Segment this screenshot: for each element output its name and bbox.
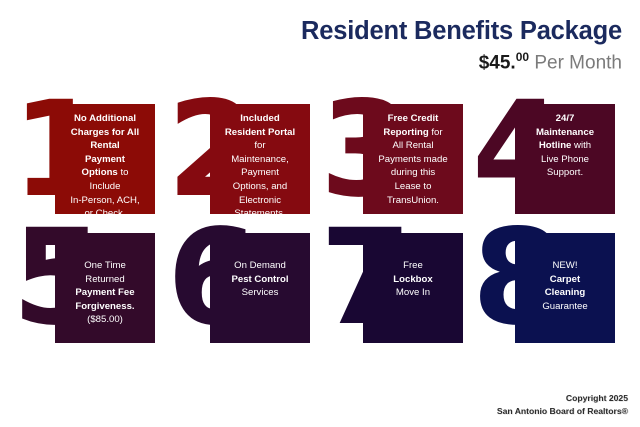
benefit-card-line: Services [214, 286, 306, 300]
benefit-card-6[interactable]: On DemandPest ControlServices [210, 233, 310, 343]
benefit-card-8[interactable]: NEW!CarpetCleaningGuarantee [515, 233, 615, 343]
benefit-card-line: for [214, 139, 306, 153]
price-amount: $45. [479, 52, 516, 73]
benefit-card-line: Rental [59, 139, 151, 153]
price-cents: 00 [516, 50, 529, 64]
page-title: Resident Benefits Package [301, 18, 622, 45]
benefit-card-line: ($85.00) [59, 313, 151, 327]
price-period: Per Month [529, 52, 622, 73]
benefit-card-line: Live Phone [519, 153, 611, 167]
benefit-card-line: On Demand [214, 259, 306, 273]
benefit-card-line: Pest Control [214, 273, 306, 287]
benefit-card-line: Returned [59, 273, 151, 287]
benefit-card-line: NEW! [519, 259, 611, 273]
benefits-grid: 1No AdditionalCharges for AllRentalPayme… [0, 104, 640, 374]
benefit-card-line: Carpet [519, 273, 611, 287]
benefit-card-line: 24/7 [519, 112, 611, 126]
benefit-card-text: FreeLockboxMove In [367, 259, 459, 300]
benefit-card-line: Reporting for [367, 126, 459, 140]
benefit-card-line: Guarantee [519, 300, 611, 314]
benefit-card-text: Free CreditReporting forAll RentalPaymen… [367, 112, 459, 207]
copyright-footer: Copyright 2025 San Antonio Board of Real… [497, 392, 628, 417]
benefit-card-line: No Additional [59, 112, 151, 126]
copyright-year: Copyright 2025 [497, 392, 628, 404]
copyright-org: San Antonio Board of Realtors® [497, 405, 628, 417]
benefit-card-line: during this [367, 166, 459, 180]
benefit-card-line: Options, and [214, 180, 306, 194]
benefit-card-line: Options to [59, 166, 151, 180]
benefit-card-line: Free Credit [367, 112, 459, 126]
benefit-card-line: Maintenance [519, 126, 611, 140]
benefit-card-line: Maintenance, [214, 153, 306, 167]
benefit-card-line: Lockbox [367, 273, 459, 287]
benefit-card-line: Payment Fee [59, 286, 151, 300]
benefit-card-line: Move In [367, 286, 459, 300]
benefit-card-line: Resident Portal [214, 126, 306, 140]
benefit-card-line: Hotline with [519, 139, 611, 153]
benefit-card-line: Payment [214, 166, 306, 180]
benefit-card-text: One TimeReturnedPayment FeeForgiveness.(… [59, 259, 151, 327]
benefit-card-3[interactable]: Free CreditReporting forAll RentalPaymen… [363, 104, 463, 214]
benefit-card-line: Support. [519, 166, 611, 180]
benefit-card-line: Free [367, 259, 459, 273]
benefit-card-line: One Time [59, 259, 151, 273]
benefit-card-1[interactable]: No AdditionalCharges for AllRentalPaymen… [55, 104, 155, 214]
benefit-card-text: NEW!CarpetCleaningGuarantee [519, 259, 611, 313]
benefit-card-5[interactable]: One TimeReturnedPayment FeeForgiveness.(… [55, 233, 155, 343]
benefit-card-line: Lease to [367, 180, 459, 194]
benefit-card-line: Included [214, 112, 306, 126]
benefit-card-line: Include [59, 180, 151, 194]
benefit-card-line: Cleaning [519, 286, 611, 300]
benefit-card-line: Payments made [367, 153, 459, 167]
benefit-card-line: Charges for All [59, 126, 151, 140]
header: Resident Benefits Package $45.00 Per Mon… [301, 18, 622, 73]
price-line: $45.00 Per Month [301, 51, 622, 73]
benefit-card-4[interactable]: 24/7MaintenanceHotline withLive PhoneSup… [515, 104, 615, 214]
benefit-card-text: On DemandPest ControlServices [214, 259, 306, 300]
benefit-card-2[interactable]: IncludedResident PortalforMaintenance,Pa… [210, 104, 310, 214]
benefit-card-text: 24/7MaintenanceHotline withLive PhoneSup… [519, 112, 611, 180]
benefit-card-line: Forgiveness. [59, 300, 151, 314]
benefit-card-7[interactable]: FreeLockboxMove In [363, 233, 463, 343]
benefit-card-line: All Rental [367, 139, 459, 153]
benefit-card-line: Payment [59, 153, 151, 167]
